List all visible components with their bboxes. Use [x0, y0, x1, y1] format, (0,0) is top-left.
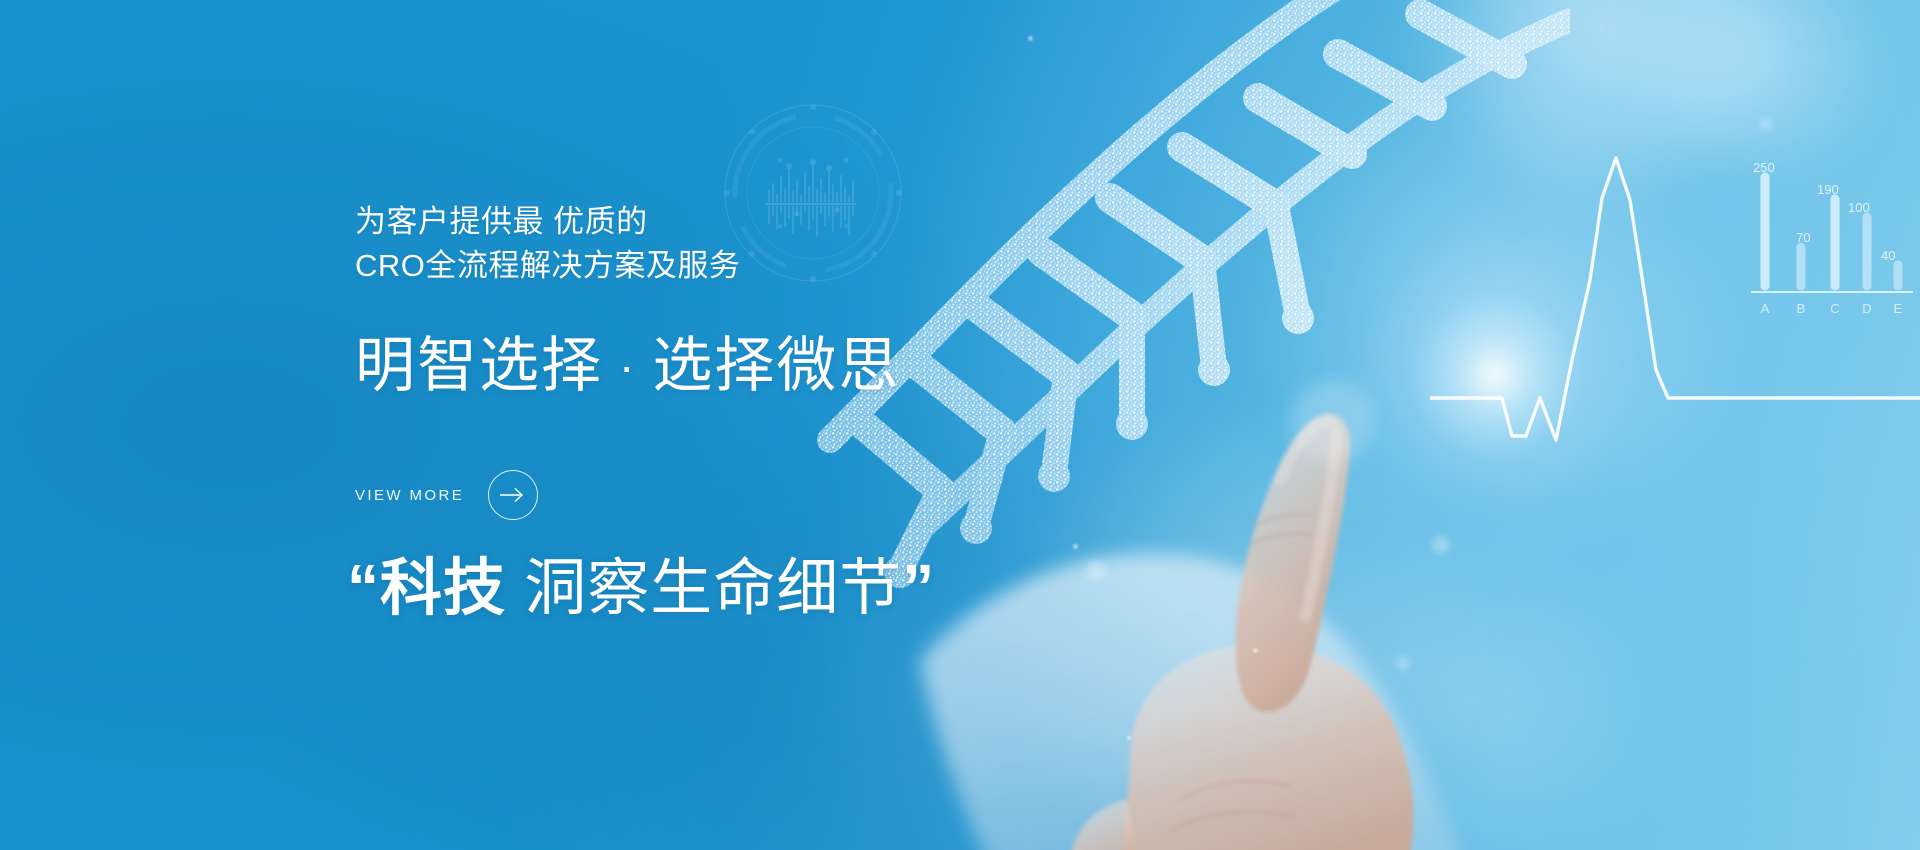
headline-left: 明智选择	[355, 332, 603, 399]
hero-subtitle: 为客户提供最 优质的 CRO全流程解决方案及服务	[355, 200, 740, 288]
headline-separator: ·	[603, 340, 652, 392]
bokeh-speck	[1760, 118, 1772, 130]
hero-headline: 明智选择·选择微思	[355, 332, 900, 399]
quote-close-mark: ”	[902, 551, 935, 623]
hero-content: 为客户提供最 优质的 CRO全流程解决方案及服务 明智选择·选择微思 VIEW …	[355, 0, 1175, 850]
hero-banner: 250 70 190 100 40 A B C D E	[0, 0, 1920, 850]
quote-open-mark: “	[347, 551, 380, 623]
bokeh-speck	[1396, 656, 1410, 670]
quote-strong: 科技	[380, 554, 506, 623]
view-more-label: VIEW MORE	[355, 487, 464, 504]
quote-light: 洞察生命细节	[506, 554, 902, 623]
bokeh-speck	[1432, 536, 1450, 554]
headline-right: 选择微思	[652, 332, 900, 399]
view-more-button[interactable]: VIEW MORE	[355, 470, 538, 520]
arrow-right-icon[interactable]	[488, 470, 538, 520]
hero-quote: “科技 洞察生命细节”	[347, 552, 935, 623]
bokeh-speck	[1253, 648, 1258, 653]
